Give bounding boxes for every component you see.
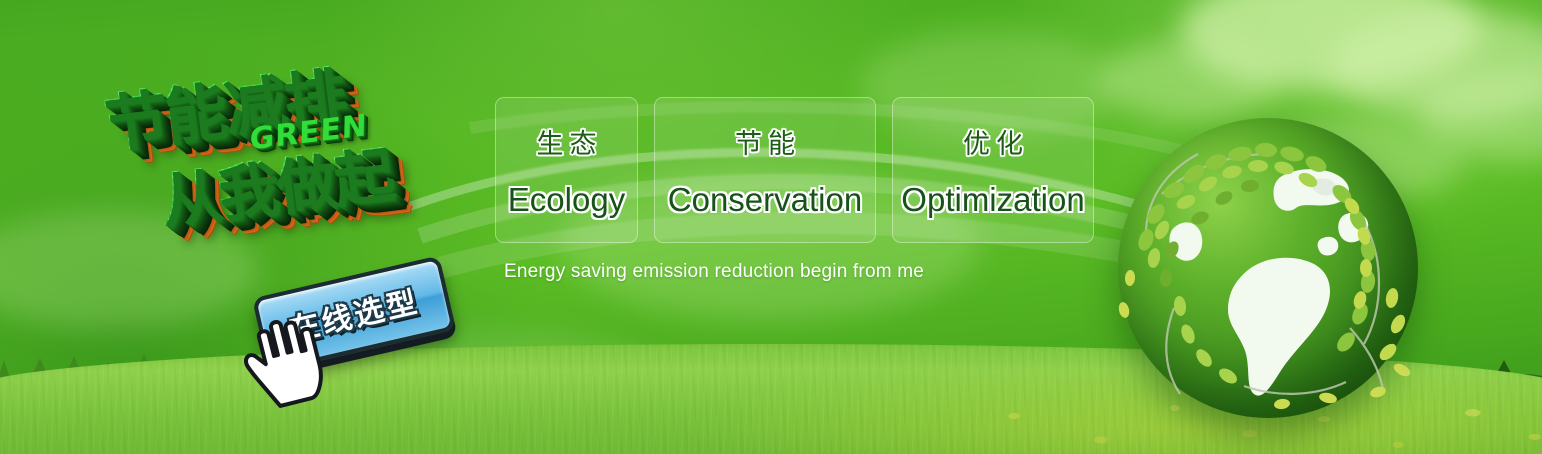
feature-card-optimization[interactable]: 优化 Optimization — [892, 97, 1094, 243]
feature-card-ecology-en: Ecology — [508, 181, 625, 219]
leafy-globe-icon — [1118, 118, 1418, 418]
hand-pointer-icon — [240, 318, 326, 408]
feature-card-conservation-en: Conservation — [668, 181, 862, 219]
globe-continents — [1118, 118, 1418, 418]
feature-card-conservation[interactable]: 节能 Conservation — [654, 97, 876, 243]
headline-3d-text: 节能减排 GREEN 从我做起 — [92, 21, 518, 308]
feature-card-ecology[interactable]: 生态 Ecology — [495, 97, 638, 243]
eco-promo-banner: 节能减排 GREEN 从我做起 在线选型 生态 Ecology 节能 Conse… — [0, 0, 1542, 454]
feature-card-conservation-cn: 节能 — [729, 122, 801, 161]
feature-card-optimization-en: Optimization — [901, 181, 1084, 219]
feature-card-list: 生态 Ecology 节能 Conservation 优化 Optimizati… — [495, 97, 1094, 243]
tagline-text: Energy saving emission reduction begin f… — [504, 261, 924, 283]
feature-card-ecology-cn: 生态 — [531, 122, 603, 161]
feature-card-optimization-cn: 优化 — [957, 122, 1029, 161]
